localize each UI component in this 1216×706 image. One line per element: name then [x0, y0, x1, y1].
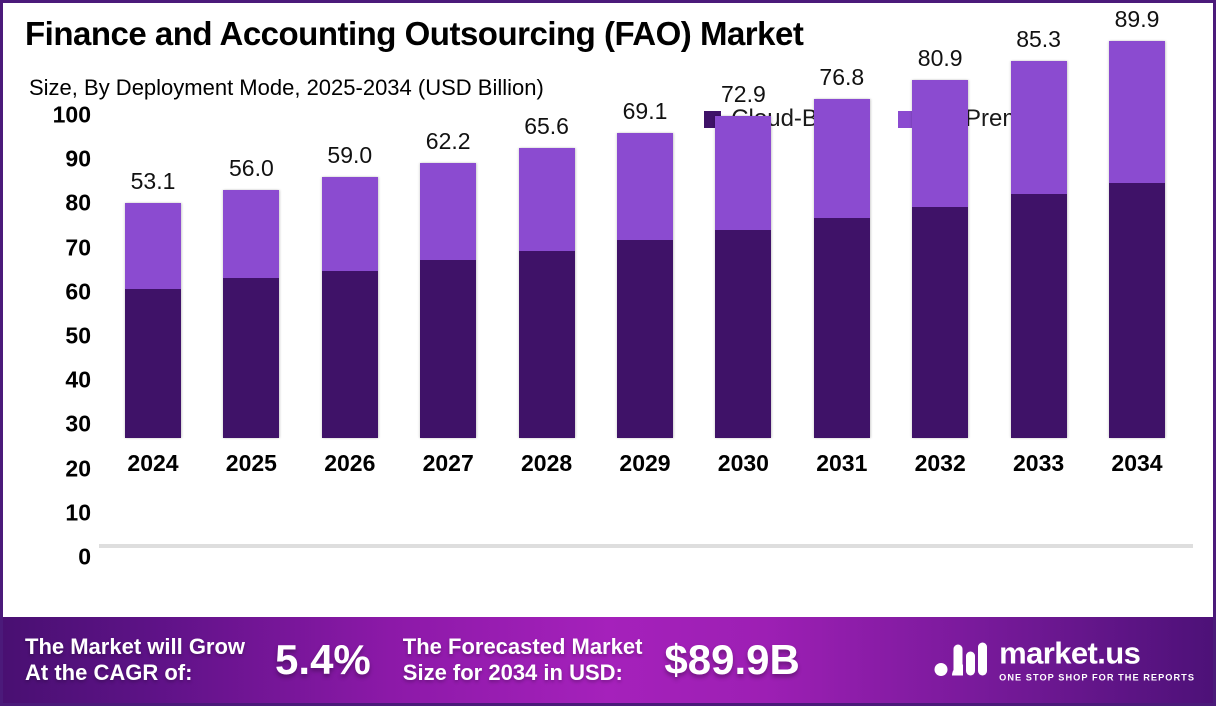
bar-segment-on-premise[interactable] [715, 116, 771, 230]
y-axis-tick-label: 10 [29, 499, 91, 526]
x-axis-tick-label: 2028 [521, 450, 572, 477]
bar-segment-on-premise[interactable] [420, 163, 476, 260]
y-axis-tick-label: 30 [29, 411, 91, 438]
bar-segment-cloud-based[interactable] [322, 271, 378, 438]
cagr-label-line2: At the CAGR of: [25, 660, 245, 686]
bar-value-label: 62.2 [426, 128, 471, 155]
bar-value-label: 89.9 [1115, 6, 1160, 33]
x-axis-tick-label: 2030 [718, 450, 769, 477]
bar-value-label: 59.0 [327, 142, 372, 169]
bar-group: 56.02025 [223, 190, 279, 438]
stacked-bar[interactable] [1011, 61, 1067, 438]
bar-segment-on-premise[interactable] [814, 99, 870, 218]
stacked-bar[interactable] [617, 133, 673, 438]
logo-text: market.us ONE STOP SHOP FOR THE REPORTS [999, 638, 1195, 683]
y-axis: 0102030405060708090100 [29, 115, 91, 557]
y-axis-tick-label: 0 [29, 544, 91, 571]
stacked-bar[interactable] [125, 203, 181, 438]
y-axis-tick-label: 50 [29, 323, 91, 350]
forecast-label-line2: Size for 2034 in USD: [403, 660, 643, 686]
bar-segment-cloud-based[interactable] [420, 260, 476, 438]
bar-segment-cloud-based[interactable] [1109, 183, 1165, 438]
bar-group: 80.92032 [912, 80, 968, 438]
stacked-bar[interactable] [715, 116, 771, 438]
x-axis-baseline [99, 544, 1193, 548]
bar-value-label: 72.9 [721, 81, 766, 108]
y-axis-tick-label: 80 [29, 190, 91, 217]
x-axis-tick-label: 2024 [127, 450, 178, 477]
bar-group: 76.82031 [814, 99, 870, 438]
bar-group: 62.22027 [420, 163, 476, 438]
y-axis-tick-label: 40 [29, 367, 91, 394]
cagr-value: 5.4% [275, 636, 371, 684]
bar-group: 89.92034 [1109, 41, 1165, 438]
y-axis-tick-label: 60 [29, 278, 91, 305]
y-axis-tick-label: 70 [29, 234, 91, 261]
forecast-block: The Forecasted Market Size for 2034 in U… [371, 634, 800, 686]
y-axis-tick-label: 90 [29, 146, 91, 173]
bar-value-label: 53.1 [131, 168, 176, 195]
cagr-block: The Market will Grow At the CAGR of: 5.4… [3, 634, 371, 686]
forecast-label-line1: The Forecasted Market [403, 634, 643, 660]
bar-value-label: 80.9 [918, 45, 963, 72]
bar-segment-on-premise[interactable] [519, 148, 575, 251]
market-us-logo[interactable]: market.us ONE STOP SHOP FOR THE REPORTS [933, 638, 1195, 683]
bar-group: 69.12029 [617, 133, 673, 438]
bar-group: 59.02026 [322, 177, 378, 438]
bar-value-label: 56.0 [229, 155, 274, 182]
y-axis-tick-label: 100 [29, 102, 91, 129]
x-axis-tick-label: 2032 [915, 450, 966, 477]
x-axis-tick-label: 2029 [619, 450, 670, 477]
x-axis-tick-label: 2026 [324, 450, 375, 477]
bar-segment-on-premise[interactable] [617, 133, 673, 241]
bar-segment-on-premise[interactable] [322, 177, 378, 271]
bar-value-label: 69.1 [623, 98, 668, 125]
bar-segment-on-premise[interactable] [912, 80, 968, 206]
bar-segment-cloud-based[interactable] [617, 240, 673, 438]
stacked-bar[interactable] [322, 177, 378, 438]
x-axis-tick-label: 2034 [1111, 450, 1162, 477]
cagr-label: The Market will Grow At the CAGR of: [25, 634, 245, 686]
bar-segment-cloud-based[interactable] [1011, 194, 1067, 438]
stacked-bar[interactable] [519, 148, 575, 438]
x-axis-tick-label: 2031 [816, 450, 867, 477]
logo-tagline: ONE STOP SHOP FOR THE REPORTS [999, 673, 1195, 683]
stacked-bar[interactable] [420, 163, 476, 438]
chart-infographic: Finance and Accounting Outsourcing (FAO)… [0, 0, 1216, 706]
forecast-value: $89.9B [664, 636, 799, 684]
bar-segment-on-premise[interactable] [223, 190, 279, 278]
stacked-bar[interactable] [814, 99, 870, 438]
x-axis-tick-label: 2025 [226, 450, 277, 477]
logo-name: market.us [999, 638, 1195, 669]
bar-segment-on-premise[interactable] [1109, 41, 1165, 184]
footer-banner: The Market will Grow At the CAGR of: 5.4… [3, 617, 1213, 703]
bar-segment-cloud-based[interactable] [519, 251, 575, 438]
bar-segment-cloud-based[interactable] [814, 218, 870, 438]
x-axis-tick-label: 2027 [423, 450, 474, 477]
bar-group: 85.32033 [1011, 61, 1067, 438]
bar-group: 72.92030 [715, 116, 771, 438]
bar-chart-plot-area: 0102030405060708090100 53.1202456.020255… [3, 3, 1216, 603]
x-axis-tick-label: 2033 [1013, 450, 1064, 477]
bar-value-label: 65.6 [524, 113, 569, 140]
cagr-label-line1: The Market will Grow [25, 634, 245, 660]
bar-segment-cloud-based[interactable] [125, 289, 181, 438]
bar-segment-on-premise[interactable] [125, 203, 181, 288]
forecast-label: The Forecasted Market Size for 2034 in U… [403, 634, 643, 686]
bar-value-label: 76.8 [819, 64, 864, 91]
bar-segment-cloud-based[interactable] [912, 207, 968, 438]
bar-value-label: 85.3 [1016, 26, 1061, 53]
stacked-bar[interactable] [912, 80, 968, 438]
bar-segment-cloud-based[interactable] [223, 278, 279, 438]
bar-group: 53.12024 [125, 203, 181, 438]
bar-segment-cloud-based[interactable] [715, 230, 771, 438]
bar-segment-on-premise[interactable] [1011, 61, 1067, 194]
stacked-bar[interactable] [223, 190, 279, 438]
stacked-bar[interactable] [1109, 41, 1165, 438]
bar-group: 65.62028 [519, 148, 575, 438]
logo-bars-icon [933, 638, 989, 682]
y-axis-tick-label: 20 [29, 455, 91, 482]
